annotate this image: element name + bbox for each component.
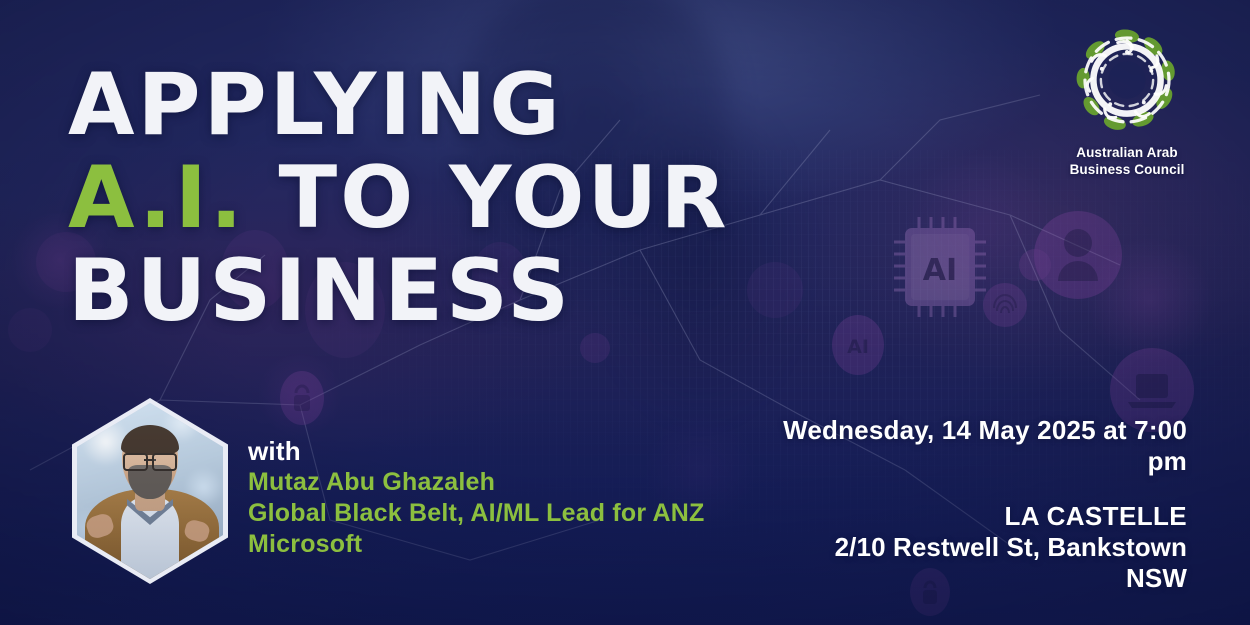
speaker-company: Microsoft <box>248 529 705 560</box>
headline-line-2-rest: TO YOUR <box>278 148 729 248</box>
speaker-details: with Mutaz Abu Ghazaleh Global Black Bel… <box>248 398 705 560</box>
speaker-role: Global Black Belt, AI/ML Lead for ANZ <box>248 498 705 529</box>
speaker-name: Mutaz Abu Ghazaleh <box>248 467 705 498</box>
headline-line-1: APPLYING <box>68 66 868 145</box>
organisation-logo: Australian Arab Business Council <box>1056 24 1198 179</box>
headline-line-2: A.I. TO YOUR <box>68 159 868 238</box>
aabc-calligraphy-wreath-icon <box>1071 24 1183 136</box>
logo-text-line-2: Business Council <box>1056 162 1198 179</box>
logo-text: Australian Arab Business Council <box>1056 145 1198 179</box>
headline-accent-ai: A.I. <box>68 148 246 248</box>
headline: APPLYING A.I. TO YOUR BUSINESS <box>68 66 868 331</box>
speaker-photo-hexagon <box>72 398 228 584</box>
speaker-block: with Mutaz Abu Ghazaleh Global Black Bel… <box>72 398 705 584</box>
logo-text-line-1: Australian Arab <box>1056 145 1198 162</box>
speaker-with-label: with <box>248 436 705 467</box>
headline-line-3: BUSINESS <box>68 252 868 331</box>
venue-name: LA CASTELLE <box>767 501 1187 532</box>
event-date-time: Wednesday, 14 May 2025 at 7:00 pm <box>767 415 1187 477</box>
venue-address: 2/10 Restwell St, Bankstown NSW <box>767 532 1187 594</box>
event-venue: LA CASTELLE 2/10 Restwell St, Bankstown … <box>767 501 1187 594</box>
event-details: Wednesday, 14 May 2025 at 7:00 pm LA CAS… <box>767 415 1187 625</box>
event-banner: AI <box>0 0 1250 625</box>
